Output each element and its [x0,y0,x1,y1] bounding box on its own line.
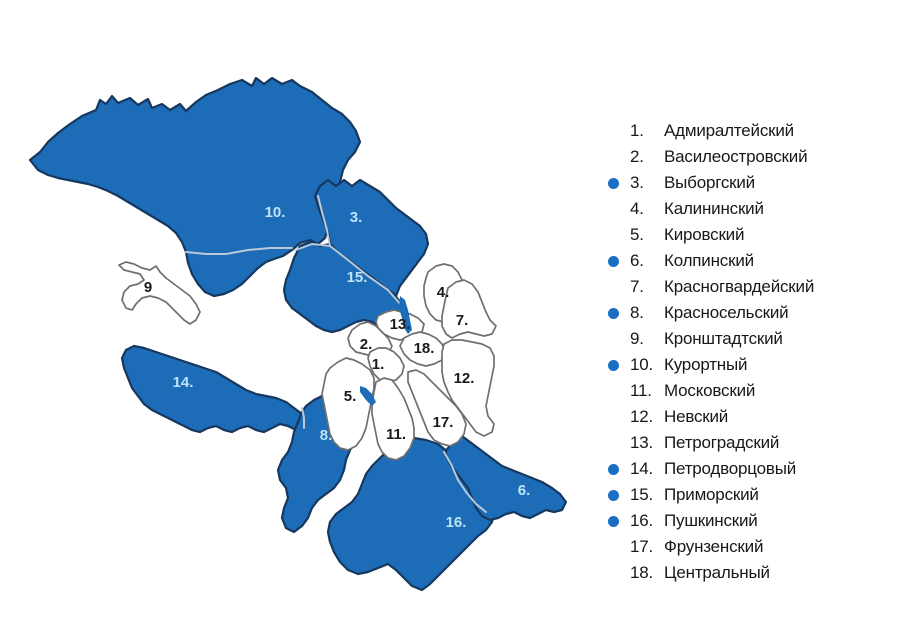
legend-number: 10. [630,352,664,378]
district-shape-14[interactable] [122,346,308,432]
legend-label: Приморский [664,485,759,504]
legend-label: Фрунзенский [664,537,763,556]
legend-item-6[interactable]: 6.Колпинский [608,248,894,274]
legend-label: Центральный [664,563,770,582]
legend-item-15[interactable]: 15.Приморский [608,482,894,508]
legend-number: 2. [630,144,664,170]
map-svg: 1. 2. 3. 4. 5. 6. 7. 8. 9 10. 11. 12. 13… [0,0,600,640]
region-label-16: 16. [446,514,467,531]
legend-item-10[interactable]: 10.Курортный [608,352,894,378]
legend-item-3[interactable]: 3.Выборгский [608,170,894,196]
legend-item-16[interactable]: 16.Пушкинский [608,508,894,534]
legend-label: Московский [664,381,755,400]
legend-item-17[interactable]: 17.Фрунзенский [608,534,894,560]
legend-label: Невский [664,407,728,426]
legend-item-8[interactable]: 8.Красносельский [608,300,894,326]
legend-label: Красногвардейский [664,277,814,296]
legend-number: 14. [630,456,664,482]
legend-number: 9. [630,326,664,352]
region-label-8: 8. [320,427,333,444]
legend-bullet-icon [608,126,619,137]
legend-bullet-icon [608,464,619,475]
map-page: 1. 2. 3. 4. 5. 6. 7. 8. 9 10. 11. 12. 13… [0,0,900,640]
legend-label: Кронштадтский [664,329,783,348]
legend-label: Выборгский [664,173,755,192]
legend-item-1[interactable]: 1.Адмиралтейский [608,118,894,144]
region-label-6: 6. [518,482,531,499]
legend-label: Колпинский [664,251,754,270]
legend-bullet-icon [608,230,619,241]
region-label-14: 14. [173,374,194,391]
legend-number: 15. [630,482,664,508]
legend-label: Петродворцовый [664,459,796,478]
legend-number: 11. [630,378,664,404]
region-label-10: 10. [265,204,286,221]
legend-item-9[interactable]: 9.Кронштадтский [608,326,894,352]
legend-label: Калининский [664,199,764,218]
legend-item-4[interactable]: 4.Калининский [608,196,894,222]
legend-item-13[interactable]: 13.Петроградский [608,430,894,456]
legend-item-2[interactable]: 2.Василеостровский [608,144,894,170]
legend-bullet-icon [608,204,619,215]
legend-bullet-icon [608,542,619,553]
region-label-12: 12. [454,370,475,387]
legend-label: Красносельский [664,303,788,322]
legend-bullet-icon [608,152,619,163]
region-label-13: 13. [390,316,411,333]
legend-number: 4. [630,196,664,222]
legend-number: 8. [630,300,664,326]
legend-number: 6. [630,248,664,274]
region-label-9: 9 [144,279,152,296]
region-label-17: 17. [433,414,454,431]
legend-bullet-icon [608,256,619,267]
legend-item-11[interactable]: 11.Московский [608,378,894,404]
legend-number: 7. [630,274,664,300]
region-label-18: 18. [414,340,435,357]
legend-item-14[interactable]: 14.Петродворцовый [608,456,894,482]
region-label-5: 5. [344,388,357,405]
region-label-1: 1. [372,356,385,373]
legend-label: Пушкинский [664,511,758,530]
region-label-2: 2. [360,336,373,353]
legend-bullet-icon [608,282,619,293]
legend-number: 12. [630,404,664,430]
legend-label: Адмиралтейский [664,121,794,140]
legend-bullet-icon [608,516,619,527]
district-map[interactable]: 1. 2. 3. 4. 5. 6. 7. 8. 9 10. 11. 12. 13… [0,0,600,640]
legend-item-18[interactable]: 18.Центральный [608,560,894,586]
legend-label: Кировский [664,225,744,244]
legend-bullet-icon [608,360,619,371]
legend-bullet-icon [608,412,619,423]
region-label-15: 15. [347,269,368,286]
legend-bullet-icon [608,438,619,449]
legend-label: Курортный [664,355,747,374]
legend-item-5[interactable]: 5.Кировский [608,222,894,248]
legend-bullet-icon [608,490,619,501]
legend-item-12[interactable]: 12.Невский [608,404,894,430]
district-legend: 1.Адмиралтейский 2.Василеостровский 3.Вы… [608,118,894,586]
legend-bullet-icon [608,178,619,189]
legend-number: 13. [630,430,664,456]
legend-number: 17. [630,534,664,560]
legend-number: 18. [630,560,664,586]
region-label-4: 4. [437,284,450,301]
district-shape-9[interactable] [119,262,200,324]
legend-bullet-icon [608,568,619,579]
legend-label: Василеостровский [664,147,807,166]
legend-bullet-icon [608,334,619,345]
region-label-3: 3. [350,209,363,226]
legend-number: 5. [630,222,664,248]
legend-number: 16. [630,508,664,534]
legend-item-7[interactable]: 7.Красногвардейский [608,274,894,300]
legend-number: 1. [630,118,664,144]
legend-bullet-icon [608,386,619,397]
region-label-7: 7. [456,312,469,329]
district-shape-7[interactable] [442,280,496,338]
region-label-11: 11. [386,426,406,443]
legend-label: Петроградский [664,433,779,452]
district-shape-11[interactable] [372,378,414,460]
legend-bullet-icon [608,308,619,319]
legend-number: 3. [630,170,664,196]
